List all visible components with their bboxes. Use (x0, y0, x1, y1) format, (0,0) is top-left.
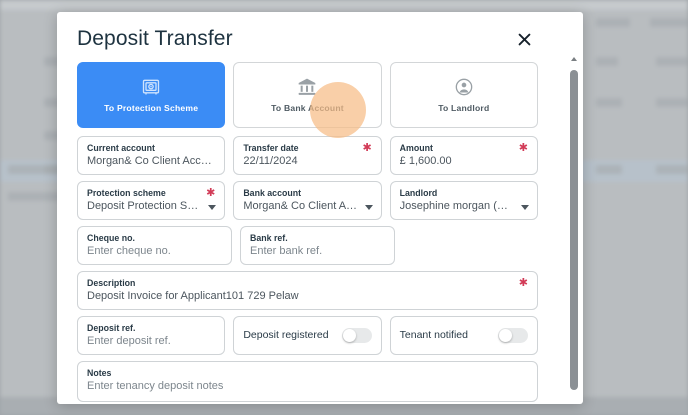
form-row-2: ✱ Protection scheme Deposit Protection S… (77, 181, 538, 220)
close-icon[interactable] (511, 26, 537, 52)
tab-to-bank-account[interactable]: To Bank Account (233, 62, 381, 128)
field-value: 22/11/2024 (243, 154, 371, 168)
tab-to-landlord[interactable]: To Landlord (390, 62, 538, 128)
row3-spacer (403, 226, 538, 265)
field-placeholder: Enter cheque no. (87, 244, 222, 258)
toggle-knob (499, 329, 512, 342)
form-row-5: Deposit ref. Enter deposit ref. Deposit … (77, 316, 538, 355)
deposit-transfer-modal: Deposit Transfer (57, 12, 583, 404)
bank-icon (297, 77, 317, 97)
form-row-3: Cheque no. Enter cheque no. Bank ref. En… (77, 226, 538, 265)
backdrop-cell (8, 192, 44, 201)
backdrop-cell (596, 18, 630, 27)
field-placeholder: Enter bank ref. (250, 244, 385, 258)
backdrop-cell (596, 98, 622, 107)
deposit-registered-toggle[interactable] (342, 328, 372, 343)
amount-field[interactable]: ✱ Amount £ 1,600.00 (390, 136, 538, 175)
person-circle-icon (454, 77, 474, 97)
deposit-ref-field[interactable]: Deposit ref. Enter deposit ref. (77, 316, 225, 355)
tab-label: To Landlord (438, 103, 489, 113)
toggle-label: Tenant notified (400, 329, 468, 341)
backdrop-cell (656, 165, 688, 174)
field-placeholder: Enter tenancy deposit notes (87, 379, 528, 394)
field-label: Bank account (243, 187, 371, 199)
toggle-knob (343, 329, 356, 342)
tab-label: To Protection Scheme (104, 103, 198, 113)
landlord-select[interactable]: Landlord Josephine morgan (Primary) (390, 181, 538, 220)
field-label: Deposit ref. (87, 322, 215, 334)
deposit-registered-toggle-field[interactable]: Deposit registered (233, 316, 381, 355)
modal-scrollbar[interactable] (567, 56, 581, 402)
chevron-up-icon[interactable] (571, 57, 577, 61)
toggle-label: Deposit registered (243, 329, 328, 341)
tab-to-protection-scheme[interactable]: To Protection Scheme (77, 62, 225, 128)
chevron-down-icon[interactable] (208, 205, 216, 210)
field-value: Josephine morgan (Primary) (400, 199, 528, 213)
form-row-4: ✱ Description Deposit Invoice for Applic… (77, 271, 538, 310)
modal-header: Deposit Transfer (77, 12, 565, 60)
field-label: Transfer date (243, 142, 371, 154)
backdrop-top-bar (0, 0, 688, 10)
tenant-notified-toggle-field[interactable]: Tenant notified (390, 316, 538, 355)
tab-label: To Bank Account (271, 103, 344, 113)
current-account-field[interactable]: Current account Morgan& Co Client Accoun… (77, 136, 225, 175)
field-value: Deposit Invoice for Applicant101 729 Pel… (87, 289, 528, 303)
safe-vault-icon (141, 77, 161, 97)
form-row-1: Current account Morgan& Co Client Accoun… (77, 136, 538, 175)
form-row-6: Notes Enter tenancy deposit notes (77, 361, 538, 402)
required-marker: ✱ (362, 143, 371, 153)
field-label: Cheque no. (87, 232, 222, 244)
field-label: Protection scheme (87, 187, 215, 199)
modal-content: Deposit Transfer (57, 12, 583, 404)
bank-ref-field[interactable]: Bank ref. Enter bank ref. (240, 226, 395, 265)
chevron-down-icon[interactable] (521, 205, 529, 210)
required-marker: ✱ (519, 278, 528, 288)
notes-field[interactable]: Notes Enter tenancy deposit notes (77, 361, 538, 402)
field-label: Landlord (400, 187, 528, 199)
protection-scheme-select[interactable]: ✱ Protection scheme Deposit Protection S… (77, 181, 225, 220)
field-value: Deposit Protection Service (… (87, 199, 215, 213)
chevron-down-icon[interactable] (365, 205, 373, 210)
page-title: Deposit Transfer (77, 27, 233, 51)
field-value: Morgan& Co Client Accoun… (243, 199, 371, 213)
field-label: Bank ref. (250, 232, 385, 244)
required-marker: ✱ (519, 143, 528, 153)
field-label: Current account (87, 142, 215, 154)
backdrop-cell (596, 57, 618, 66)
field-label: Description (87, 277, 528, 289)
required-marker: ✱ (206, 188, 215, 198)
backdrop-cell (650, 18, 688, 27)
tenant-notified-toggle[interactable] (498, 328, 528, 343)
field-value: £ 1,600.00 (400, 154, 528, 168)
field-value: Morgan& Co Client Account (87, 154, 215, 168)
field-placeholder: Enter deposit ref. (87, 334, 215, 348)
backdrop-cell (656, 57, 688, 66)
field-label: Notes (87, 367, 528, 379)
description-field[interactable]: ✱ Description Deposit Invoice for Applic… (77, 271, 538, 310)
cheque-no-field[interactable]: Cheque no. Enter cheque no. (77, 226, 232, 265)
bank-account-select[interactable]: Bank account Morgan& Co Client Accoun… (233, 181, 381, 220)
deposit-transfer-form: Current account Morgan& Co Client Accoun… (77, 136, 565, 402)
field-label: Amount (400, 142, 528, 154)
transfer-date-field[interactable]: ✱ Transfer date 22/11/2024 (233, 136, 381, 175)
scrollbar-thumb[interactable] (570, 70, 578, 390)
backdrop-cell (656, 98, 688, 107)
transfer-target-tabs: To Protection Scheme To Bank Account (77, 62, 565, 128)
backdrop-cell (596, 165, 622, 174)
